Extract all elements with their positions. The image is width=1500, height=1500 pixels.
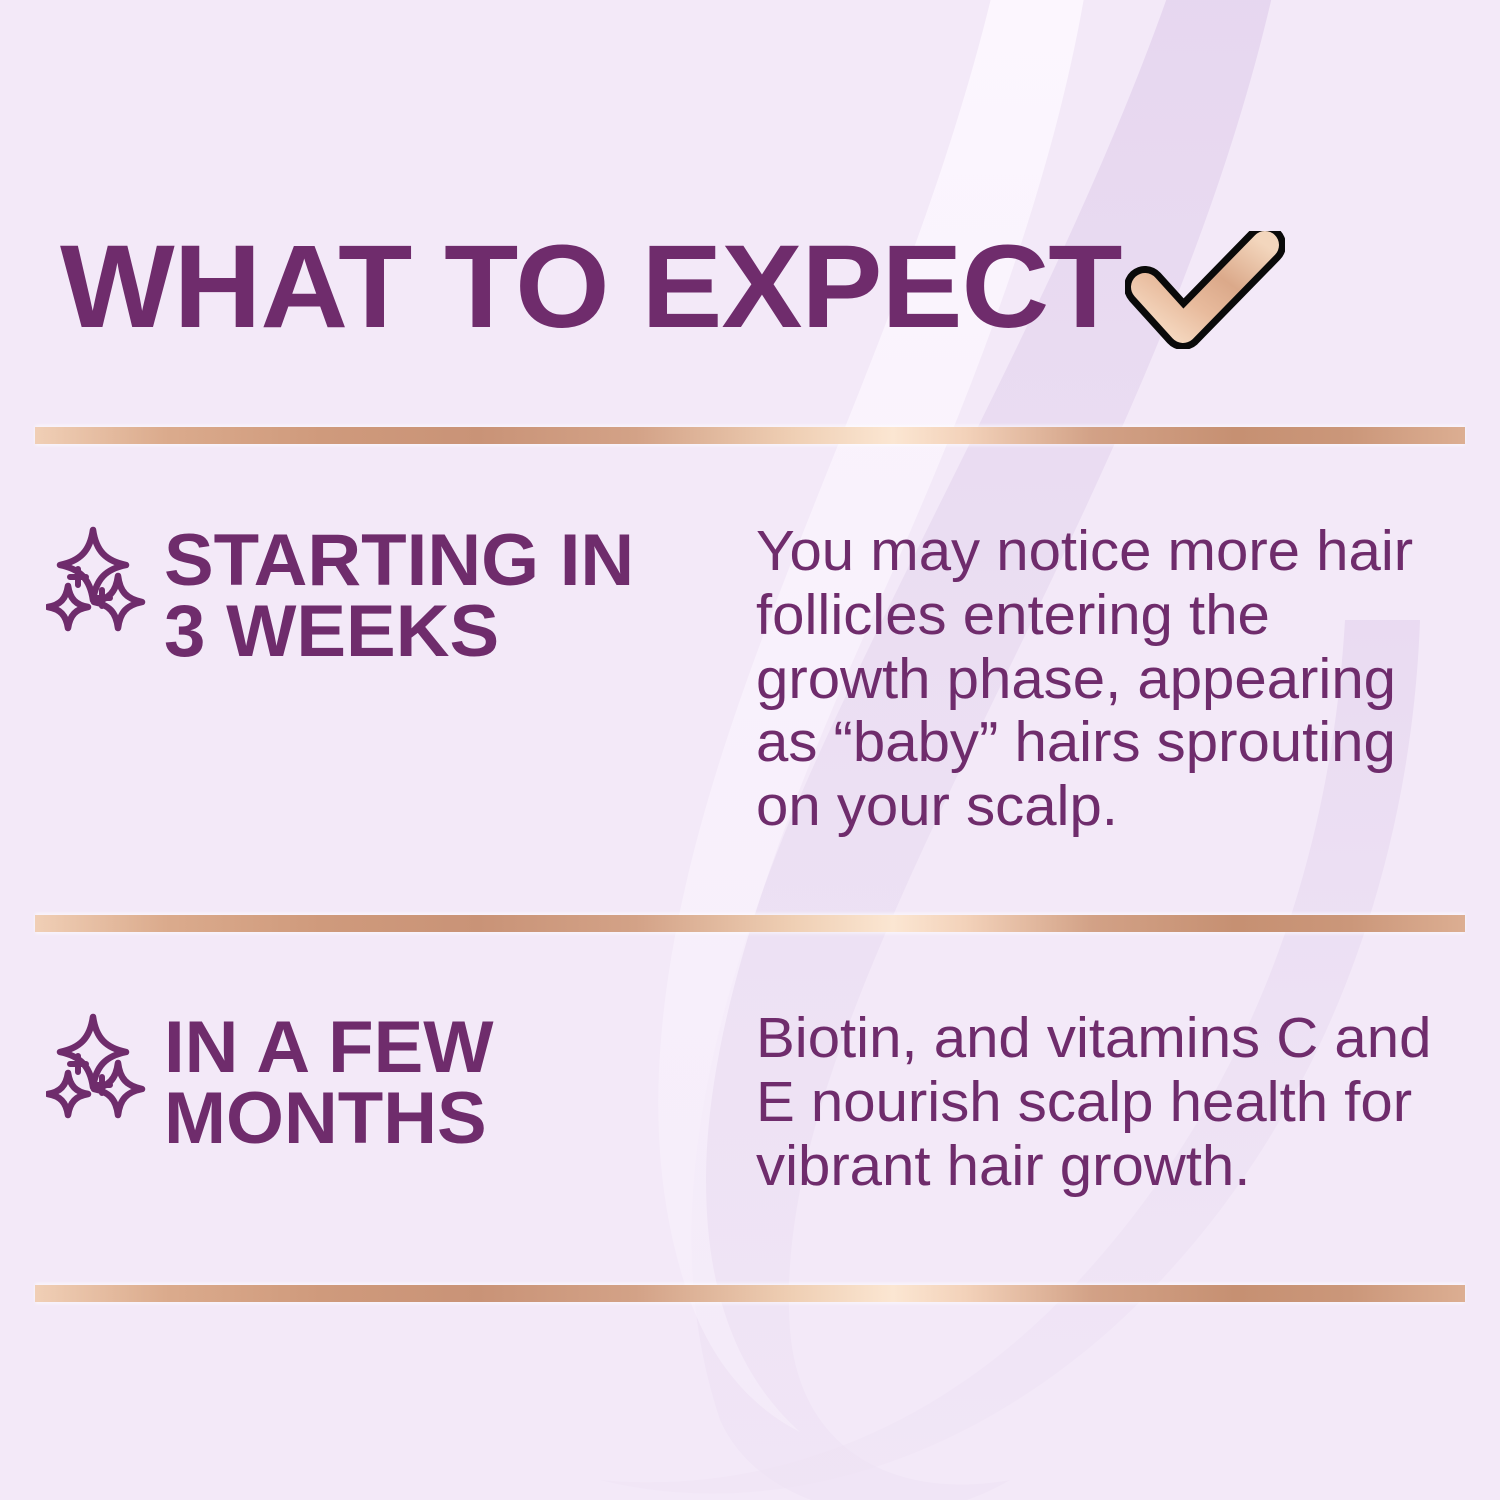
section-heading-wrap: STARTING IN 3 WEEKS bbox=[164, 516, 756, 668]
section-body: You may notice more hair follicles enter… bbox=[756, 520, 1460, 839]
section-body-wrap: Biotin, and vitamins C and E nourish sca… bbox=[756, 1003, 1446, 1198]
section-heading-wrap: IN A FEW MONTHS bbox=[164, 1003, 756, 1155]
divider-middle bbox=[35, 915, 1465, 932]
divider-bottom bbox=[35, 1285, 1465, 1302]
expectation-section-3-weeks: STARTING IN 3 WEEKS You may notice more … bbox=[46, 516, 1446, 839]
page-title: WHAT TO EXPECT bbox=[60, 228, 1121, 346]
section-body-wrap: You may notice more hair follicles enter… bbox=[756, 516, 1446, 839]
sparkles-icon bbox=[46, 516, 164, 634]
divider-top bbox=[35, 427, 1465, 444]
section-heading: STARTING IN 3 WEEKS bbox=[164, 526, 768, 668]
section-heading: IN A FEW MONTHS bbox=[164, 1013, 768, 1155]
infographic-canvas: WHAT TO EXPECT bbox=[0, 0, 1500, 1500]
check-mark-icon bbox=[1125, 231, 1285, 349]
sparkles-icon bbox=[46, 1003, 164, 1121]
header: WHAT TO EXPECT bbox=[60, 222, 1450, 352]
section-body: Biotin, and vitamins C and E nourish sca… bbox=[756, 1007, 1460, 1198]
expectation-section-few-months: IN A FEW MONTHS Biotin, and vitamins C a… bbox=[46, 1003, 1446, 1198]
